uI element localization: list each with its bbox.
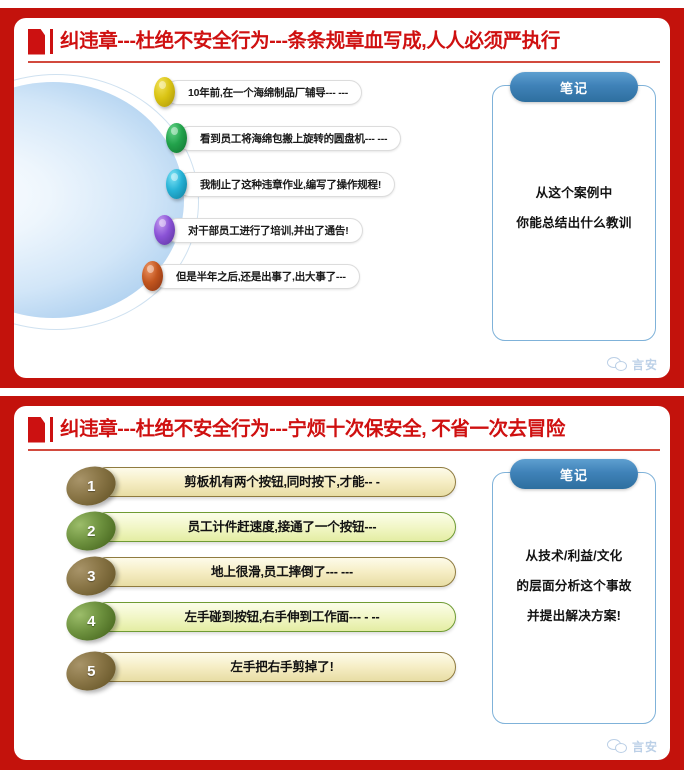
step-bead-3 bbox=[166, 169, 187, 199]
note-line-2: 你能总结出什么教训 bbox=[516, 212, 631, 231]
slide-deck-page: 纠违章---杜绝不安全行为---条条规章血写成,人人必须严执行 10年前,在一个… bbox=[0, 0, 684, 774]
step-pill-3[interactable]: 我制止了这种违章作业,编写了操作规程! bbox=[177, 172, 395, 197]
step-bead-5 bbox=[142, 261, 163, 291]
step-pill-1[interactable]: 10年前,在一个海绵制品厂辅导--- --- bbox=[165, 80, 362, 105]
note-line-2: 的层面分析这个事故 bbox=[516, 575, 631, 594]
step-number-1: 1 bbox=[87, 478, 95, 495]
slide-1-header: 纠违章---杜绝不安全行为---条条规章血写成,人人必须严执行 bbox=[14, 18, 670, 66]
note-body: 从技术/利益/文化 的层面分析这个事故 并提出解决方案! bbox=[493, 545, 655, 624]
slide-1: 纠违章---杜绝不安全行为---条条规章血写成,人人必须严执行 10年前,在一个… bbox=[0, 8, 684, 388]
list-item[interactable]: 5 左手把右手剪掉了! bbox=[66, 652, 456, 690]
note-tab-label: 笔记 bbox=[560, 465, 588, 484]
red-flag-icon bbox=[28, 29, 45, 55]
note-tab: 笔记 bbox=[510, 72, 638, 102]
list-item[interactable]: 但是半年之后,还是出事了,出大事了--- bbox=[142, 263, 360, 289]
watermark: 言安 bbox=[607, 356, 658, 373]
list-item[interactable]: 对干部员工进行了培训,并出了通告! bbox=[154, 217, 363, 243]
slide-1-title: 纠违章---杜绝不安全行为---条条规章血写成,人人必须严执行 bbox=[60, 32, 560, 52]
step-text-2: 看到员工将海绵包搬上旋转的圆盘机--- --- bbox=[200, 131, 387, 146]
step-pill-1[interactable]: 剪板机有两个按钮,同时按下,才能-- - bbox=[92, 467, 456, 497]
step-pill-3[interactable]: 地上很滑,员工摔倒了--- --- bbox=[92, 557, 456, 587]
wechat-icon bbox=[607, 739, 629, 755]
header-underline bbox=[28, 449, 660, 451]
step-text-5: 左手把右手剪掉了! bbox=[230, 660, 333, 674]
wechat-icon bbox=[607, 357, 629, 373]
note-line-1: 从这个案例中 bbox=[536, 182, 613, 201]
step-text-3: 地上很滑,员工摔倒了--- --- bbox=[211, 565, 353, 579]
step-pill-2[interactable]: 看到员工将海绵包搬上旋转的圆盘机--- --- bbox=[177, 126, 401, 151]
watermark-text: 言安 bbox=[632, 356, 658, 373]
note-line-3: 并提出解决方案! bbox=[527, 605, 621, 624]
step-number-2: 2 bbox=[87, 523, 95, 540]
step-text-5: 但是半年之后,还是出事了,出大事了--- bbox=[176, 269, 346, 284]
header-accent-bar bbox=[50, 417, 53, 442]
slide-2-header: 纠违章---杜绝不安全行为---宁烦十次保安全, 不省一次去冒险 bbox=[14, 406, 670, 454]
step-text-3: 我制止了这种违章作业,编写了操作规程! bbox=[200, 177, 381, 192]
list-item[interactable]: 4 左手碰到按钮,右手伸到工作面--- - -- bbox=[66, 602, 456, 640]
step-text-4: 左手碰到按钮,右手伸到工作面--- - -- bbox=[185, 610, 380, 624]
note-body: 从这个案例中 你能总结出什么教训 bbox=[493, 182, 655, 231]
red-flag-icon bbox=[28, 417, 45, 443]
list-item[interactable]: 看到员工将海绵包搬上旋转的圆盘机--- --- bbox=[166, 125, 401, 151]
step-number-5: 5 bbox=[87, 663, 95, 680]
slide-2-title: 纠违章---杜绝不安全行为---宁烦十次保安全, 不省一次去冒险 bbox=[60, 420, 565, 440]
slide-1-content: 纠违章---杜绝不安全行为---条条规章血写成,人人必须严执行 10年前,在一个… bbox=[14, 18, 670, 378]
header-accent-bar bbox=[50, 29, 53, 54]
step-pill-4[interactable]: 左手碰到按钮,右手伸到工作面--- - -- bbox=[92, 602, 456, 632]
step-pill-5[interactable]: 左手把右手剪掉了! bbox=[92, 652, 456, 682]
list-item[interactable]: 我制止了这种违章作业,编写了操作规程! bbox=[166, 171, 395, 197]
note-card: 笔记 从技术/利益/文化 的层面分析这个事故 并提出解决方案! bbox=[492, 472, 656, 724]
note-tab-label: 笔记 bbox=[560, 78, 588, 97]
watermark: 言安 bbox=[607, 738, 658, 755]
list-item[interactable]: 3 地上很滑,员工摔倒了--- --- bbox=[66, 557, 456, 595]
step-text-1: 剪板机有两个按钮,同时按下,才能-- - bbox=[184, 475, 379, 489]
slide-2: 纠违章---杜绝不安全行为---宁烦十次保安全, 不省一次去冒险 1 剪板机有两… bbox=[0, 396, 684, 770]
list-item[interactable]: 2 员工计件赶速度,接通了一个按钮--- bbox=[66, 512, 456, 550]
note-tab: 笔记 bbox=[510, 459, 638, 489]
watermark-text: 言安 bbox=[632, 738, 658, 755]
step-bead-1 bbox=[154, 77, 175, 107]
step-pill-2[interactable]: 员工计件赶速度,接通了一个按钮--- bbox=[92, 512, 456, 542]
header-underline bbox=[28, 61, 660, 63]
list-item[interactable]: 1 剪板机有两个按钮,同时按下,才能-- - bbox=[66, 467, 456, 505]
step-text-2: 员工计件赶速度,接通了一个按钮--- bbox=[188, 520, 377, 534]
note-line-1: 从技术/利益/文化 bbox=[526, 545, 623, 564]
slide-2-content: 纠违章---杜绝不安全行为---宁烦十次保安全, 不省一次去冒险 1 剪板机有两… bbox=[14, 406, 670, 760]
step-number-3: 3 bbox=[87, 568, 95, 585]
step-pill-4[interactable]: 对干部员工进行了培训,并出了通告! bbox=[165, 218, 363, 243]
step-bead-2 bbox=[166, 123, 187, 153]
note-card: 笔记 从这个案例中 你能总结出什么教训 bbox=[492, 85, 656, 341]
list-item[interactable]: 10年前,在一个海绵制品厂辅导--- --- bbox=[154, 79, 362, 105]
step-pill-5[interactable]: 但是半年之后,还是出事了,出大事了--- bbox=[153, 264, 360, 289]
step-text-4: 对干部员工进行了培训,并出了通告! bbox=[188, 223, 349, 238]
step-bead-4 bbox=[154, 215, 175, 245]
step-text-1: 10年前,在一个海绵制品厂辅导--- --- bbox=[188, 85, 348, 100]
step-number-4: 4 bbox=[87, 613, 95, 630]
